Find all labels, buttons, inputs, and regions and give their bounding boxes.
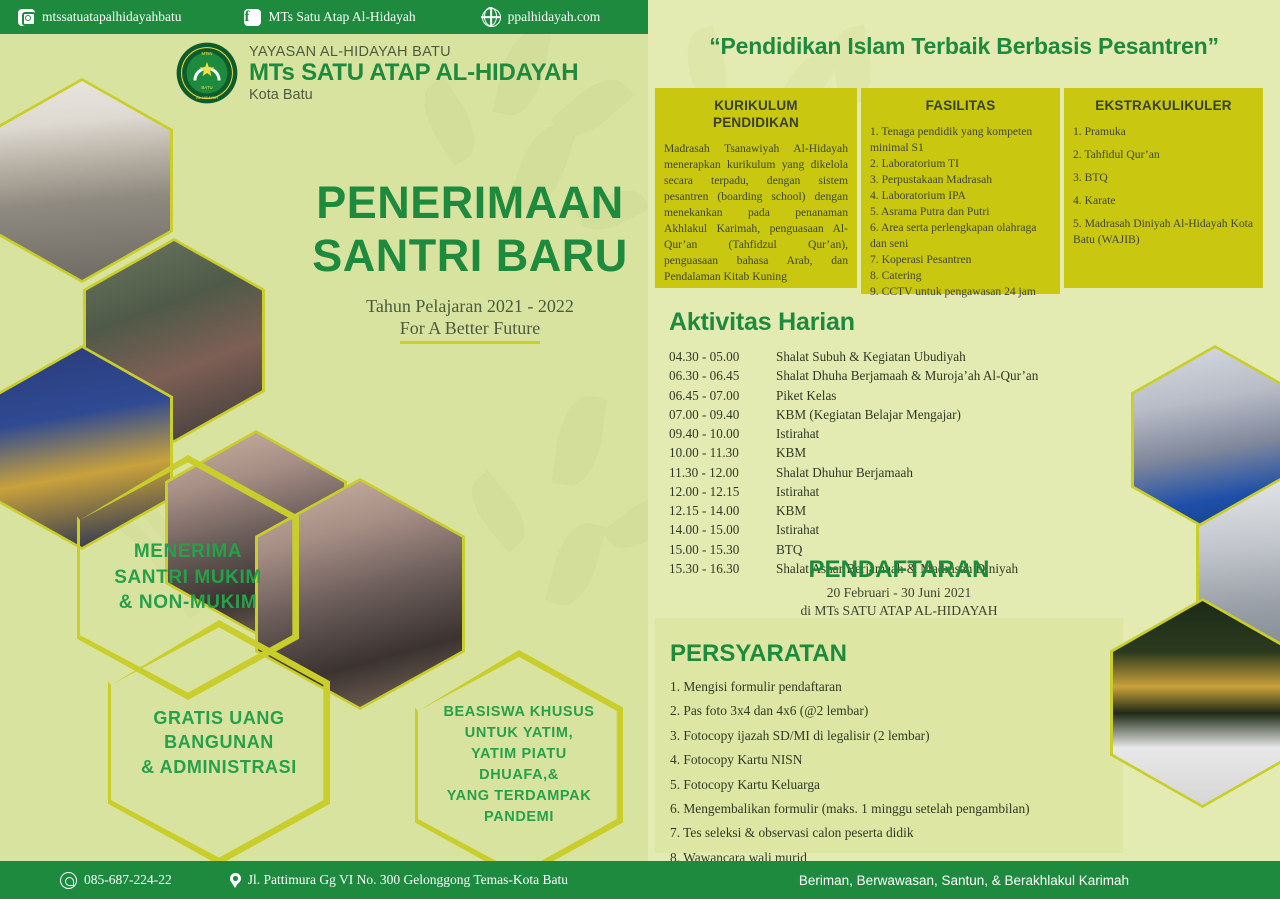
slogan-text: “Pendidikan Islam Terbaik Berbasis Pesan… <box>648 33 1280 60</box>
requirement-row: 1. Mengisi formulir pendaftaran <box>670 675 1123 699</box>
list-item: 3. BTQ <box>1073 170 1254 186</box>
schedule-activity: Shalat Subuh & Kegiatan Ubudiyah <box>776 347 966 366</box>
schedule-time: 14.00 - 15.00 <box>669 520 776 539</box>
schedule-time: 10.00 - 11.30 <box>669 443 776 462</box>
footer-motto-bar: Beriman, Berwawasan, Santun, & Berakhlak… <box>648 861 1280 899</box>
schedule-activity: KBM <box>776 501 806 520</box>
pendaftaran-place: di MTs SATU ATAP AL-HIDAYAH <box>669 602 1129 620</box>
facebook-handle: MTs Satu Atap Al-Hidayah <box>268 9 415 25</box>
schedule-row: 12.15 - 14.00KBM <box>669 501 1229 520</box>
list-item: 6. Area serta perlengkapan olahraga dan … <box>870 220 1051 252</box>
footer-phone[interactable]: 085-687-224-22 <box>60 872 172 889</box>
schedule-time: 12.15 - 14.00 <box>669 501 776 520</box>
schedule-activity: Shalat Dhuhur Berjamaah <box>776 463 913 482</box>
aktivitas-heading: Aktivitas Harian <box>669 308 1229 337</box>
list-item: 4. Karate <box>1073 193 1254 209</box>
card-kurikulum-title: KURIKULUM PENDIDIKAN <box>664 98 848 132</box>
social-facebook[interactable]: f MTs Satu Atap Al-Hidayah <box>244 9 415 26</box>
list-item: 5. Asrama Putra dan Putri <box>870 204 1051 220</box>
schedule-activity: Istirahat <box>776 482 819 501</box>
schedule-activity: Istirahat <box>776 520 819 539</box>
schedule-activity: KBM <box>776 443 806 462</box>
social-instagram[interactable]: mtssatuatapalhidayahbatu <box>18 9 181 26</box>
list-item: 1. Pramuka <box>1073 124 1254 140</box>
fasilitas-list: 1. Tenaga pendidik yang kompeten minimal… <box>870 124 1051 300</box>
badge-gratis-label: GRATIS UANG BANGUNAN & ADMINISTRASI <box>141 706 297 779</box>
svg-text:MTsN: MTsN <box>201 51 212 56</box>
leaf-shape <box>460 470 538 552</box>
badge-gratis-uang: GRATIS UANG BANGUNAN & ADMINISTRASI <box>108 620 330 865</box>
instagram-handle: mtssatuatapalhidayahbatu <box>42 9 181 25</box>
schedule-time: 12.00 - 12.15 <box>669 482 776 501</box>
school-name: MTs SATU ATAP AL-HIDAYAH <box>249 60 578 87</box>
card-fasilitas-title: FASILITAS <box>870 98 1051 115</box>
school-seal-logo: MTsN BATU AL-HIDAYAH <box>176 42 238 104</box>
leaf-shape <box>551 393 607 489</box>
social-bar: mtssatuatapalhidayahbatu f MTs Satu Atap… <box>0 0 648 34</box>
poster-canvas: mtssatuatapalhidayahbatu f MTs Satu Atap… <box>0 0 1280 899</box>
schedule-time: 06.30 - 06.45 <box>669 366 776 385</box>
svg-text:BATU: BATU <box>201 85 212 90</box>
schedule-activity: KBM (Kegiatan Belajar Mengajar) <box>776 405 961 424</box>
requirement-row: 5. Fotocopy Kartu Keluarga <box>670 773 1123 797</box>
pendaftaran-dates: 20 Februari - 30 Juni 2021 <box>669 584 1129 602</box>
card-fasilitas-body: 1. Tenaga pendidik yang kompeten minimal… <box>870 124 1051 300</box>
headline-tagline: For A Better Future <box>400 318 541 344</box>
globe-icon <box>482 8 501 27</box>
section-pendaftaran: PENDAFTARAN 20 Februari - 30 Juni 2021 d… <box>669 556 1129 619</box>
section-persyaratan: PERSYARATAN 1. Mengisi formulir pendafta… <box>655 618 1123 853</box>
website-handle: ppalhidayah.com <box>508 9 601 25</box>
requirement-row: 2. Pas foto 3x4 dan 4x6 (@2 lembar) <box>670 699 1123 723</box>
map-pin-icon <box>230 873 241 884</box>
requirement-row: 4. Fotocopy Kartu NISN <box>670 748 1123 772</box>
institution-block: MTsN BATU AL-HIDAYAH YAYASAN AL-HIDAYAH … <box>176 42 578 104</box>
list-item: 9. CCTV untuk pengawasan 24 jam <box>870 284 1051 300</box>
schedule-time: 11.30 - 12.00 <box>669 463 776 482</box>
requirement-row: 6. Mengembalikan formulir (maks. 1 mingg… <box>670 797 1123 821</box>
badge-beasiswa-label: BEASISWA KHUSUS UNTUK YATIM, YATIM PIATU… <box>443 702 594 828</box>
instagram-icon <box>18 9 35 26</box>
headline-line-1: PENERIMAAN <box>300 176 640 229</box>
card-ekstrakulikuler-title: EKSTRAKULIKULER <box>1073 98 1254 115</box>
footer-address-text: Jl. Pattimura Gg VI No. 300 Gelonggong T… <box>248 872 568 888</box>
badge-beasiswa: BEASISWA KHUSUS UNTUK YATIM, YATIM PIATU… <box>415 650 623 880</box>
list-item: 8. Catering <box>870 268 1051 284</box>
schedule-activity: Istirahat <box>776 424 819 443</box>
main-headline: PENERIMAAN SANTRI BARU Tahun Pelajaran 2… <box>300 176 640 344</box>
card-kurikulum: KURIKULUM PENDIDIKAN Madrasah Tsanawiyah… <box>655 88 857 288</box>
social-website[interactable]: ppalhidayah.com <box>482 8 601 27</box>
facebook-icon: f <box>244 9 261 26</box>
headline-line-2: SANTRI BARU <box>300 229 640 282</box>
headline-year: Tahun Pelajaran 2021 - 2022 <box>300 294 640 318</box>
schedule-activity: Shalat Dhuha Berjamaah & Muroja’ah Al-Qu… <box>776 366 1038 385</box>
school-city: Kota Batu <box>249 87 578 104</box>
leaf-shape <box>545 517 606 611</box>
list-item: 1. Tenaga pendidik yang kompeten minimal… <box>870 124 1051 156</box>
whatsapp-icon <box>60 872 77 889</box>
card-ekstrakulikuler: EKSTRAKULIKULER 1. Pramuka2. Tahfidul Qu… <box>1064 88 1263 288</box>
schedule-time: 09.40 - 10.00 <box>669 424 776 443</box>
list-item: 2. Laboratorium TI <box>870 156 1051 172</box>
list-item: 7. Koperasi Pesantren <box>870 252 1051 268</box>
persyaratan-title: PERSYARATAN <box>670 640 1123 668</box>
card-ekstrakulikuler-body: 1. Pramuka2. Tahfidul Qur’an3. BTQ4. Kar… <box>1073 124 1254 248</box>
schedule-time: 06.45 - 07.00 <box>669 386 776 405</box>
badge-menerima-label: MENERIMA SANTRI MUKIM & NON-MUKIM <box>114 539 262 616</box>
schedule-time: 04.30 - 05.00 <box>669 347 776 366</box>
list-item: 5. Madrasah Diniyah Al-Hidayah Kota Batu… <box>1073 216 1254 248</box>
card-kurikulum-body: Madrasah Tsanawiyah Al-Hidayah menerapka… <box>664 141 848 285</box>
card-fasilitas: FASILITAS 1. Tenaga pendidik yang kompet… <box>861 88 1060 294</box>
leaf-watermark-mid <box>480 390 670 610</box>
schedule-time: 07.00 - 09.40 <box>669 405 776 424</box>
pendaftaran-title: PENDAFTARAN <box>669 556 1129 584</box>
ekstrakulikuler-list: 1. Pramuka2. Tahfidul Qur’an3. BTQ4. Kar… <box>1073 124 1254 248</box>
requirement-row: 7. Tes seleksi & observasi calon peserta… <box>670 821 1123 845</box>
footer-motto-text: Beriman, Berwawasan, Santun, & Berakhlak… <box>799 873 1129 888</box>
schedule-row: 04.30 - 05.00Shalat Subuh & Kegiatan Ubu… <box>669 347 1229 366</box>
photo-hexagon-students-entrance <box>0 78 173 283</box>
persyaratan-list: 1. Mengisi formulir pendaftaran2. Pas fo… <box>670 675 1123 870</box>
schedule-activity: Piket Kelas <box>776 386 836 405</box>
list-item: 3. Perpustakaan Madrasah <box>870 172 1051 188</box>
schedule-row: 14.00 - 15.00Istirahat <box>669 520 1229 539</box>
footer-phone-text: 085-687-224-22 <box>84 872 172 888</box>
footer-address: Jl. Pattimura Gg VI No. 300 Gelonggong T… <box>230 872 568 888</box>
foundation-name: YAYASAN AL-HIDAYAH BATU <box>249 45 578 60</box>
svg-text:AL-HIDAYAH: AL-HIDAYAH <box>196 96 218 100</box>
list-item: 4. Laboratorium IPA <box>870 188 1051 204</box>
list-item: 2. Tahfidul Qur’an <box>1073 147 1254 163</box>
requirement-row: 3. Fotocopy ijazah SD/MI di legalisir (2… <box>670 724 1123 748</box>
footer-contact-bar: 085-687-224-22 Jl. Pattimura Gg VI No. 3… <box>0 861 648 899</box>
schedule-row: 06.30 - 06.45Shalat Dhuha Berjamaah & Mu… <box>669 366 1229 385</box>
